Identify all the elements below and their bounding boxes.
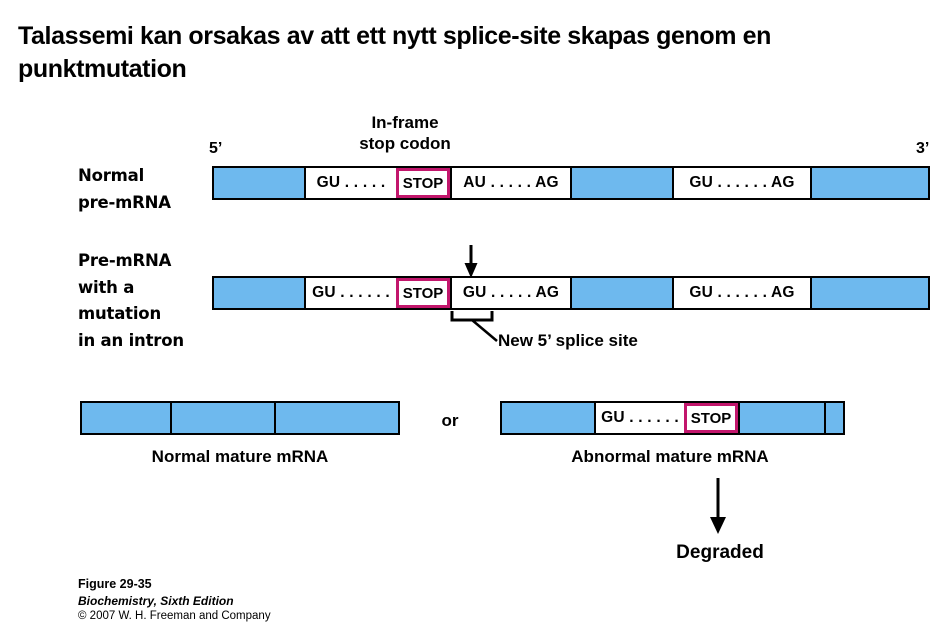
segment-exon — [502, 403, 594, 433]
three-prime-marker-row1: 3’ — [916, 140, 929, 158]
in-frame-stop-codon-label: In-frame stop codon — [310, 112, 500, 155]
row-label-mutated-pre-mrna: Pre-mRNA with a mutation in an intron — [78, 248, 218, 355]
caption-normal-mature-mrna: Normal mature mRNA — [80, 447, 400, 467]
segment-exon — [570, 168, 672, 198]
segment-intron-mutated: GU . . . . . AG — [450, 278, 570, 308]
caption-abnormal-mature-mrna: Abnormal mature mRNA — [495, 447, 845, 467]
segment-exon — [810, 278, 928, 308]
segment-exon — [824, 403, 843, 433]
degradation-arrow-icon — [710, 478, 726, 534]
construct-mutated-pre-mrna: GU . . . . . . STOP GU . . . . . AG GU .… — [212, 276, 930, 310]
segment-stop-codon: STOP — [396, 168, 450, 198]
row-label-normal-pre-mrna: Normal pre-mRNA — [78, 163, 208, 216]
construct-normal-mature-mrna — [80, 401, 400, 435]
five-prime-marker-row1: 5’ — [209, 140, 222, 158]
degraded-label: Degraded — [600, 542, 840, 564]
segment-exon — [170, 403, 274, 433]
or-separator: or — [420, 410, 480, 431]
segment-stop-codon: STOP — [396, 278, 450, 308]
new-splice-site-label: New 5’ splice site — [498, 330, 728, 351]
segment-exon — [214, 168, 304, 198]
new-splice-site-bracket-icon — [452, 311, 497, 341]
segment-exon — [738, 403, 824, 433]
segment-exon — [570, 278, 672, 308]
page-title: Talassemi kan orsakas av att ett nytt sp… — [18, 20, 918, 86]
segment-intron: GU . . . . . . AG — [672, 278, 810, 308]
construct-abnormal-mature-mrna: GU . . . . . . STOP — [500, 401, 845, 435]
figure-copyright: © 2007 W. H. Freeman and Company — [78, 609, 271, 625]
segment-intron: GU . . . . . . — [304, 278, 396, 308]
mutation-arrow-icon — [465, 245, 478, 278]
segment-intron: GU . . . . . — [304, 168, 396, 198]
segment-stop-codon: STOP — [684, 403, 738, 433]
segment-exon — [810, 168, 928, 198]
segment-intron: GU . . . . . . AG — [672, 168, 810, 198]
slide-canvas: Talassemi kan orsakas av att ett nytt sp… — [0, 0, 948, 638]
segment-exon — [274, 403, 398, 433]
segment-intron: AU . . . . . AG — [450, 168, 570, 198]
figure-number: Figure 29-35 — [78, 576, 271, 593]
segment-exon — [82, 403, 170, 433]
figure-book-title: Biochemistry, Sixth Edition — [78, 593, 271, 609]
figure-footer: Figure 29-35 Biochemistry, Sixth Edition… — [78, 576, 271, 625]
construct-normal-pre-mrna: GU . . . . . STOP AU . . . . . AG GU . .… — [212, 166, 930, 200]
segment-intron: GU . . . . . . — [594, 403, 684, 433]
segment-exon — [214, 278, 304, 308]
